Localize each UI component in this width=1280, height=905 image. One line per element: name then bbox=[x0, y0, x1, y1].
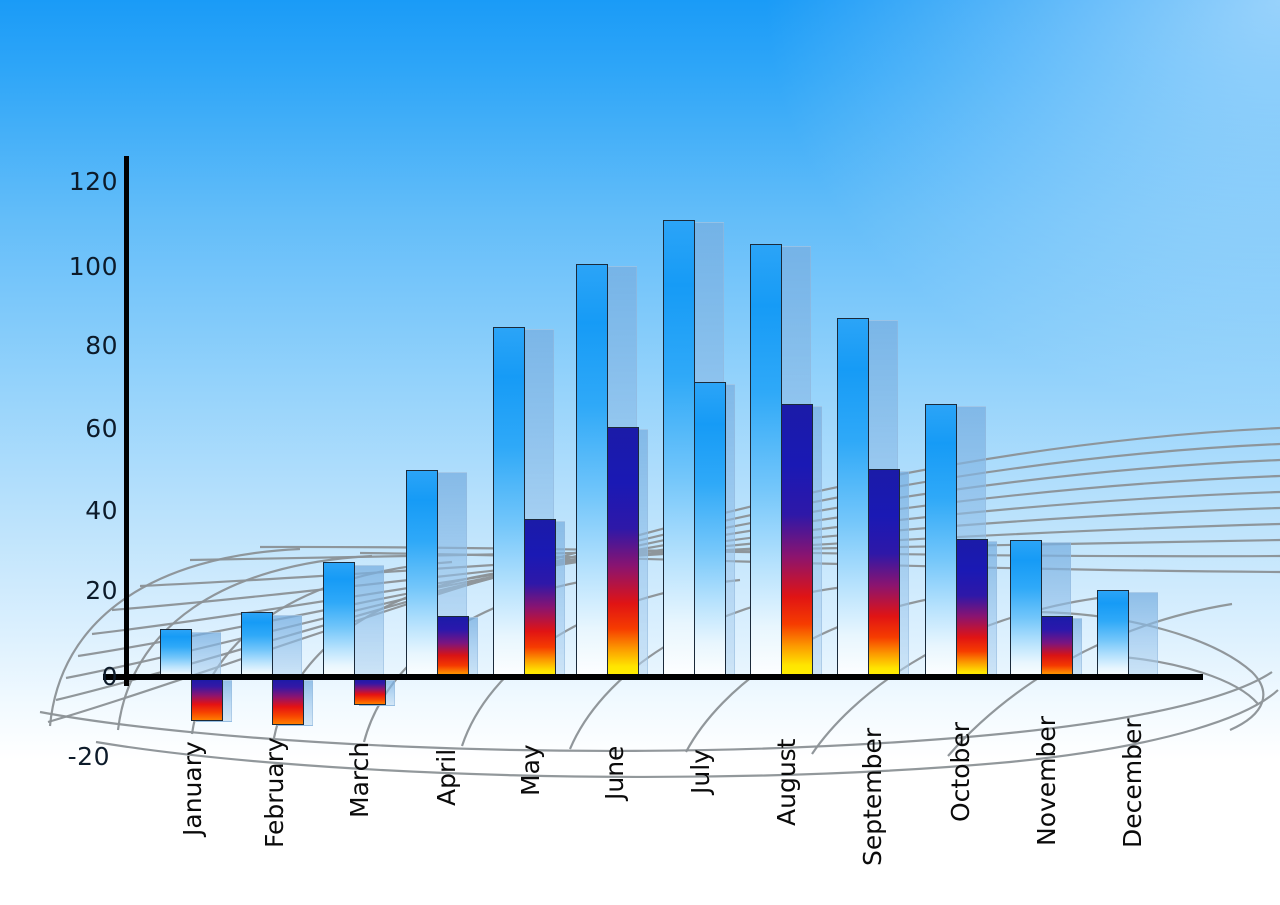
x-tick-label-august: August bbox=[772, 739, 801, 827]
bar-april-series2[interactable] bbox=[437, 616, 469, 680]
bar-face bbox=[1010, 540, 1042, 680]
x-tick-label-january: January bbox=[178, 741, 207, 836]
bar-face bbox=[437, 616, 469, 680]
bar-face bbox=[191, 678, 223, 721]
bar-february-series1[interactable] bbox=[241, 612, 273, 680]
x-tick-label-april: April bbox=[432, 749, 461, 806]
bar-face bbox=[323, 562, 355, 680]
y-axis-line bbox=[124, 156, 129, 686]
bar-december-series1[interactable] bbox=[1097, 590, 1129, 680]
x-tick-label-may: May bbox=[516, 744, 545, 796]
bar-face bbox=[925, 404, 957, 680]
y-tick-label-100: 100 bbox=[48, 252, 118, 281]
bar-october-series1[interactable] bbox=[925, 404, 957, 680]
bar-june-series1[interactable] bbox=[576, 264, 608, 680]
bar-face bbox=[781, 404, 813, 680]
bar-face bbox=[750, 244, 782, 680]
x-axis-line bbox=[103, 674, 1203, 680]
bar-face bbox=[576, 264, 608, 680]
y-tick-label-80: 80 bbox=[48, 331, 118, 360]
bar-january-series1[interactable] bbox=[160, 629, 192, 680]
bar-june-series2[interactable] bbox=[607, 427, 639, 680]
chart-canvas: 120 100 80 60 40 20 0 -20 January Februa… bbox=[0, 0, 1280, 905]
bar-july-series2[interactable] bbox=[694, 382, 726, 680]
x-tick-label-june: June bbox=[600, 746, 629, 800]
bar-face bbox=[663, 220, 695, 680]
bar-face bbox=[868, 469, 900, 680]
y-tick-label--20: -20 bbox=[40, 742, 110, 771]
bar-july-series1[interactable] bbox=[663, 220, 695, 680]
bar-may-series1[interactable] bbox=[493, 327, 525, 680]
bar-face bbox=[837, 318, 869, 680]
bar-face bbox=[493, 327, 525, 680]
plot-area: 120 100 80 60 40 20 0 -20 January Februa… bbox=[0, 0, 1280, 905]
y-tick-label-60: 60 bbox=[48, 414, 118, 443]
bar-august-series1[interactable] bbox=[750, 244, 782, 680]
y-tick-label-20: 20 bbox=[48, 576, 118, 605]
bar-face bbox=[272, 678, 304, 725]
bar-march-series1[interactable] bbox=[323, 562, 355, 680]
bar-march-series2[interactable] bbox=[354, 678, 386, 705]
x-tick-label-september: September bbox=[858, 728, 887, 866]
bar-face bbox=[354, 678, 386, 705]
y-tick-label-0: 0 bbox=[48, 662, 118, 691]
bar-november-series1[interactable] bbox=[1010, 540, 1042, 680]
y-tick-label-120: 120 bbox=[48, 167, 118, 196]
x-tick-label-february: February bbox=[260, 737, 289, 848]
x-tick-label-november: November bbox=[1032, 716, 1061, 846]
bar-face bbox=[524, 519, 556, 680]
bar-face bbox=[956, 539, 988, 680]
bar-face bbox=[1097, 590, 1129, 680]
bar-february-series2[interactable] bbox=[272, 678, 304, 725]
bar-face bbox=[406, 470, 438, 680]
bar-september-series1[interactable] bbox=[837, 318, 869, 680]
bar-face bbox=[241, 612, 273, 680]
bar-september-series2[interactable] bbox=[868, 469, 900, 680]
x-tick-label-july: July bbox=[686, 749, 715, 794]
bar-face bbox=[1041, 616, 1073, 680]
bar-april-series1[interactable] bbox=[406, 470, 438, 680]
bar-november-series2[interactable] bbox=[1041, 616, 1073, 680]
x-tick-label-december: December bbox=[1118, 718, 1147, 848]
x-tick-label-october: October bbox=[946, 722, 975, 822]
bar-august-series2[interactable] bbox=[781, 404, 813, 680]
bar-october-series2[interactable] bbox=[956, 539, 988, 680]
x-tick-label-march: March bbox=[345, 742, 374, 818]
bar-may-series2[interactable] bbox=[524, 519, 556, 680]
bar-january-series2[interactable] bbox=[191, 678, 223, 721]
bar-face bbox=[607, 427, 639, 680]
bar-face bbox=[694, 382, 726, 680]
bar-face bbox=[160, 629, 192, 680]
y-tick-label-40: 40 bbox=[48, 496, 118, 525]
